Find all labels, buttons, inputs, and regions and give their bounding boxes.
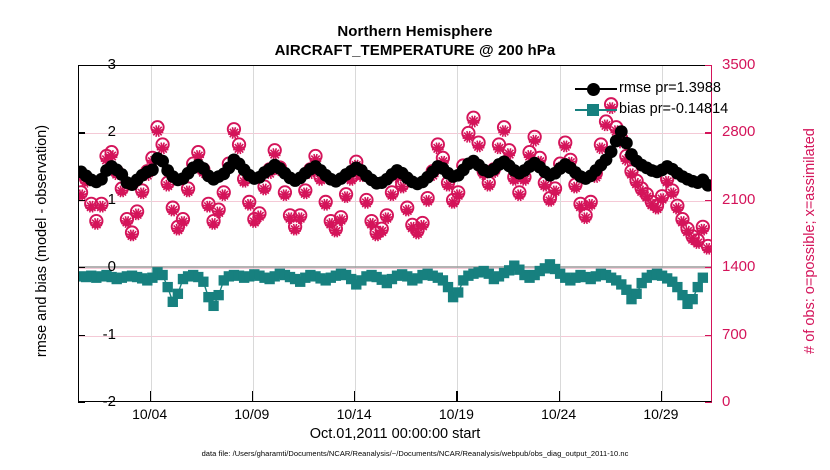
y-axis-left-tick-label: -2 [103, 393, 116, 410]
y-axis-left-tick-mark [78, 402, 85, 403]
y-axis-left-tick-label: 1 [108, 191, 116, 208]
chart-title-line2: AIRCRAFT_TEMPERATURE @ 200 hPa [0, 41, 830, 60]
legend-label-rmse: rmse pr=1.3988 [619, 78, 721, 99]
y-axis-left-tick-mark [78, 335, 85, 336]
chart-legend: rmse pr=1.3988 bias pr=-0.14814 [575, 78, 728, 120]
x-axis-tick-mark [456, 391, 457, 402]
legend-marker-rmse [575, 78, 617, 99]
x-axis-tick-mark [661, 391, 662, 402]
y-axis-right-tick-label: 1400 [722, 258, 755, 275]
y-axis-left-tick-label: 2 [108, 123, 116, 140]
y-axis-right-tick-mark [705, 402, 712, 403]
legend-label-bias: bias pr=-0.14814 [619, 99, 728, 120]
y-axis-left-label: rmse and bias (model - observation) [34, 71, 50, 411]
x-axis-tick-label: 10/24 [541, 406, 576, 422]
x-axis-tick-mark [252, 391, 253, 402]
x-axis-tick-label: 10/09 [234, 406, 269, 422]
y-axis-left-tick-label: 0 [108, 258, 116, 275]
x-axis-tick-label: 10/14 [337, 406, 372, 422]
x-axis-tick-label: 10/19 [439, 406, 474, 422]
legend-marker-bias [575, 99, 617, 120]
y-axis-right-tick-mark [705, 65, 712, 66]
x-axis-tick-mark [150, 391, 151, 402]
legend-item-bias[interactable]: bias pr=-0.14814 [575, 99, 728, 120]
y-axis-left-tick-mark [78, 267, 85, 268]
y-axis-left-tick-mark [78, 132, 85, 133]
x-axis-tick-mark [354, 391, 355, 402]
y-axis-right-tick-label: 2800 [722, 123, 755, 140]
chart-title-line1: Northern Hemisphere [0, 22, 830, 41]
y-axis-right-tick-label: 700 [722, 326, 747, 343]
chart-figure: Northern Hemisphere AIRCRAFT_TEMPERATURE… [0, 0, 830, 470]
y-axis-right-tick-mark [705, 267, 712, 268]
x-axis-label: Oct.01,2011 00:00:00 start [0, 426, 790, 442]
x-axis-tick-label: 10/04 [132, 406, 167, 422]
y-axis-left-tick-mark [78, 200, 85, 201]
y-axis-right-tick-label: 0 [722, 393, 730, 410]
chart-title: Northern Hemisphere AIRCRAFT_TEMPERATURE… [0, 22, 830, 60]
y-axis-right-tick-mark [705, 200, 712, 201]
x-axis-tick-mark [559, 391, 560, 402]
legend-item-rmse[interactable]: rmse pr=1.3988 [575, 78, 728, 99]
y-axis-right-tick-mark [705, 132, 712, 133]
y-axis-right-label: # of obs: o=possible; x=assimilated [802, 71, 818, 411]
y-axis-right-tick-mark [705, 335, 712, 336]
y-axis-right-tick-label: 2100 [722, 191, 755, 208]
y-axis-left-tick-label: -1 [103, 326, 116, 343]
x-axis-tick-label: 10/29 [643, 406, 678, 422]
y-axis-left-tick-mark [78, 65, 85, 66]
y-axis-left-tick-label: 3 [108, 56, 116, 73]
data-file-caption: data file: /Users/gharamti/Documents/NCA… [0, 449, 830, 458]
y-axis-right-tick-label: 3500 [722, 56, 755, 73]
